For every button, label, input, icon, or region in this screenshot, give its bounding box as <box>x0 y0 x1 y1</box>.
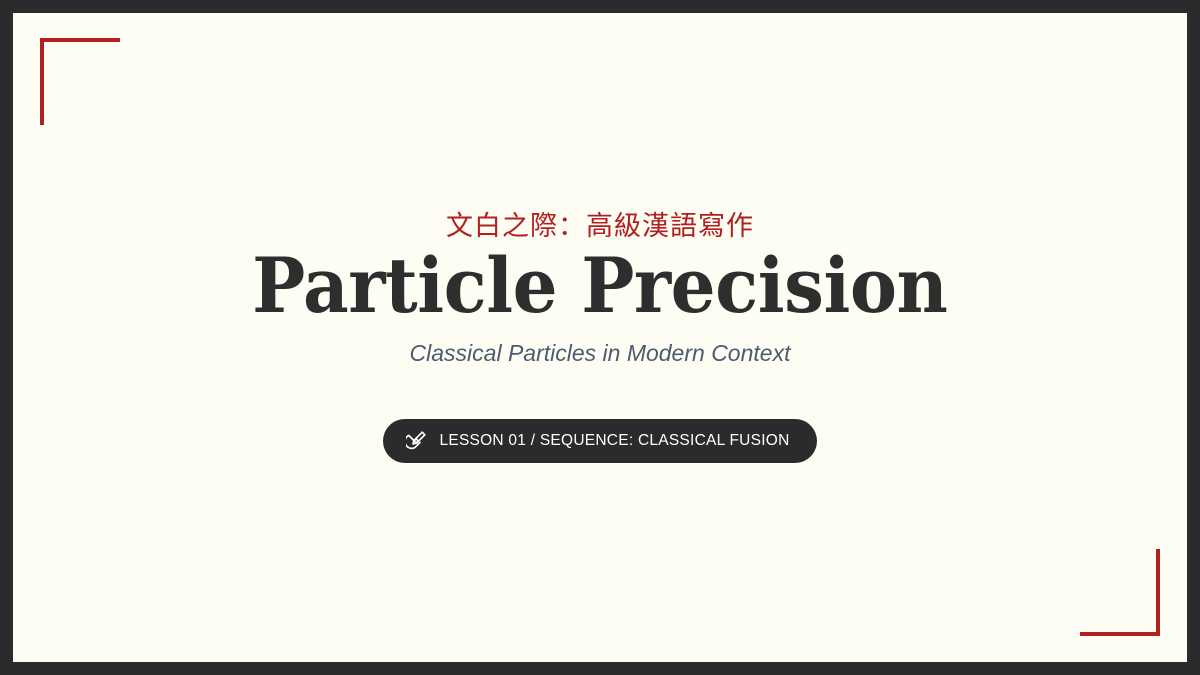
lesson-badge: LESSON 01 / SEQUENCE: CLASSICAL FUSION <box>383 419 816 463</box>
title-block: 文白之際：高級漢語寫作 Particle Precision Classical… <box>13 13 1187 662</box>
eyebrow-chinese-heading: 文白之際：高級漢語寫作 <box>446 212 754 242</box>
pen-nib-icon <box>406 430 427 451</box>
slide-canvas: 文白之際：高級漢語寫作 Particle Precision Classical… <box>13 13 1187 662</box>
slide-frame: 文白之際：高級漢語寫作 Particle Precision Classical… <box>0 0 1200 675</box>
lesson-badge-label: LESSON 01 / SEQUENCE: CLASSICAL FUSION <box>439 432 789 450</box>
subtitle: Classical Particles in Modern Context <box>410 340 791 368</box>
page-title: Particle Precision <box>252 246 947 327</box>
